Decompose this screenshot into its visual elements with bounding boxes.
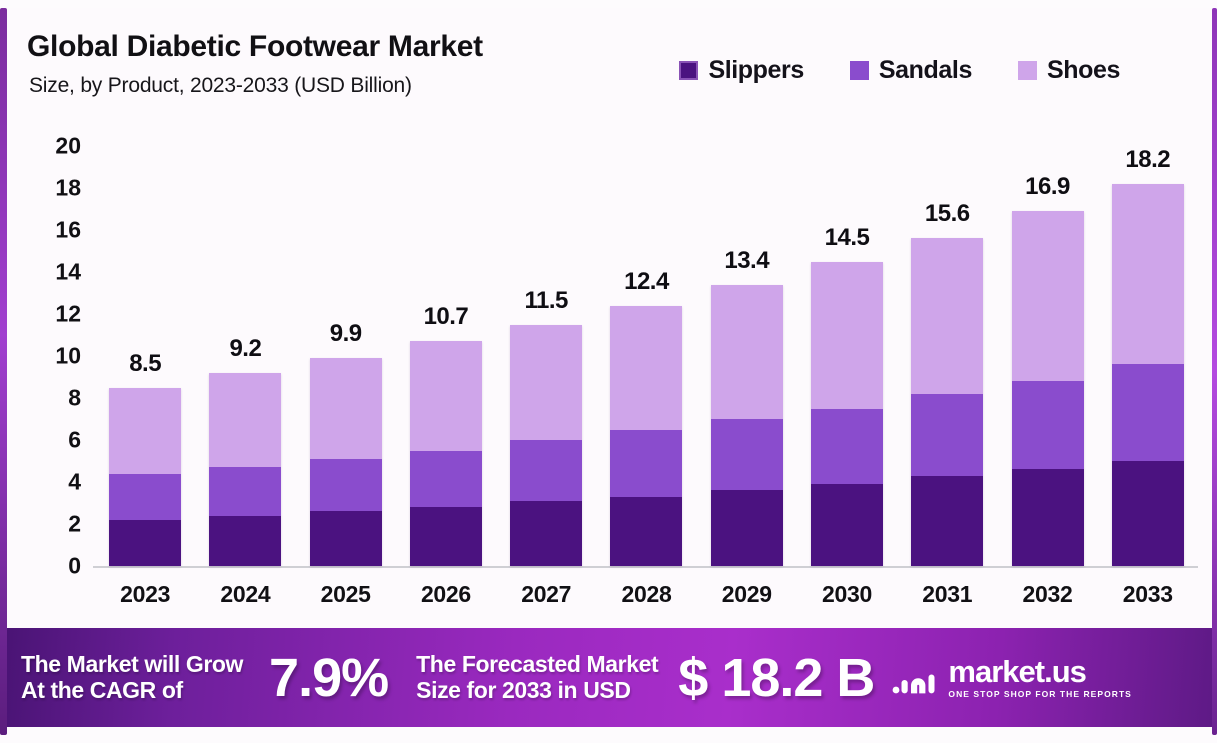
legend-label: Shoes — [1047, 56, 1120, 85]
bar-segment-sandals[interactable] — [610, 430, 682, 497]
forecast-size-label-line1: The Forecasted Market — [416, 651, 658, 677]
x-axis-tick-2030: 2030 — [801, 581, 893, 608]
chart-legend: SlippersSandalsShoes — [679, 56, 1120, 85]
bar-segment-slippers[interactable] — [610, 497, 682, 566]
legend-item-sandals[interactable]: Sandals — [850, 56, 972, 85]
footer-banner: The Market will Grow At the CAGR of 7.9%… — [7, 628, 1212, 727]
bar-total-label: 8.5 — [99, 350, 191, 378]
bar-total-label: 14.5 — [801, 224, 893, 252]
chart-infographic: Global Diabetic Footwear Market Size, by… — [0, 0, 1217, 743]
cagr-value: 7.9% — [269, 647, 388, 709]
x-axis-tick-2033: 2033 — [1102, 581, 1194, 608]
stacked-bar[interactable] — [711, 285, 783, 566]
y-axis-tick: 12 — [55, 301, 81, 328]
bar-segment-sandals[interactable] — [711, 419, 783, 490]
bar-segment-slippers[interactable] — [209, 516, 281, 566]
frame-right-accent — [1212, 8, 1217, 735]
bar-total-label: 10.7 — [400, 303, 492, 331]
bar-group-2028[interactable]: 12.4 — [600, 146, 692, 566]
y-axis: 02468101214161820 — [7, 116, 93, 620]
brand-name: market.us — [948, 656, 1131, 687]
bar-segment-sandals[interactable] — [410, 451, 482, 508]
y-axis-tick: 10 — [55, 343, 81, 370]
bar-segment-sandals[interactable] — [510, 440, 582, 501]
x-axis-tick-2031: 2031 — [901, 581, 993, 608]
bar-group-2030[interactable]: 14.5 — [801, 146, 893, 566]
cagr-label-line1: The Market will Grow — [21, 651, 243, 677]
x-axis-labels: 2023202420252026202720282029203020312032… — [95, 574, 1198, 614]
bar-total-label: 11.5 — [500, 287, 592, 315]
stacked-bar[interactable] — [1112, 184, 1184, 566]
stacked-bar[interactable] — [1012, 211, 1084, 566]
bar-segment-slippers[interactable] — [1012, 469, 1084, 566]
bar-group-2032[interactable]: 16.9 — [1002, 146, 1094, 566]
bar-segment-sandals[interactable] — [1112, 364, 1184, 461]
bar-segment-shoes[interactable] — [410, 341, 482, 450]
x-axis-line — [93, 566, 1198, 568]
bar-group-2031[interactable]: 15.6 — [901, 146, 993, 566]
bar-total-label: 9.2 — [199, 335, 291, 363]
y-axis-tick: 16 — [55, 217, 81, 244]
bar-group-2025[interactable]: 9.9 — [300, 146, 392, 566]
bar-segment-slippers[interactable] — [811, 484, 883, 566]
plot-area: 02468101214161820 8.59.29.910.711.512.41… — [7, 116, 1212, 620]
bar-segment-shoes[interactable] — [310, 358, 382, 459]
bar-segment-shoes[interactable] — [510, 325, 582, 441]
stacked-bar[interactable] — [610, 306, 682, 566]
bar-segment-slippers[interactable] — [310, 511, 382, 566]
bar-total-label: 9.9 — [300, 320, 392, 348]
forecast-size-label-line2: Size for 2033 in USD — [416, 677, 630, 703]
bar-segment-sandals[interactable] — [1012, 381, 1084, 469]
y-axis-tick: 14 — [55, 259, 81, 286]
bar-segment-slippers[interactable] — [1112, 461, 1184, 566]
legend-swatch-icon — [679, 61, 698, 80]
bar-segment-shoes[interactable] — [911, 238, 983, 393]
bar-total-label: 12.4 — [600, 268, 692, 296]
x-axis-tick-2032: 2032 — [1002, 581, 1094, 608]
brand-logo[interactable]: market.us ONE STOP SHOP FOR THE REPORTS — [892, 656, 1131, 699]
y-axis-tick: 18 — [55, 175, 81, 202]
y-axis-tick: 6 — [68, 427, 81, 454]
stacked-bar[interactable] — [410, 341, 482, 566]
bar-segment-shoes[interactable] — [209, 373, 281, 468]
bar-segment-slippers[interactable] — [410, 507, 482, 566]
bar-segment-shoes[interactable] — [1012, 211, 1084, 381]
market-us-logo-icon — [892, 661, 938, 695]
x-axis-tick-2028: 2028 — [600, 581, 692, 608]
bar-segment-slippers[interactable] — [911, 476, 983, 566]
stacked-bar[interactable] — [911, 238, 983, 566]
legend-swatch-icon — [850, 61, 869, 80]
cagr-label-line2: At the CAGR of — [21, 677, 183, 703]
cagr-label: The Market will Grow At the CAGR of — [21, 652, 243, 704]
page-subtitle: Size, by Product, 2023-2033 (USD Billion… — [29, 74, 412, 98]
bar-total-label: 16.9 — [1002, 173, 1094, 201]
legend-label: Sandals — [879, 56, 972, 85]
bar-group-2029[interactable]: 13.4 — [701, 146, 793, 566]
bar-segment-shoes[interactable] — [109, 388, 181, 474]
x-axis-tick-2029: 2029 — [701, 581, 793, 608]
frame-left-accent — [0, 8, 7, 735]
y-axis-tick: 2 — [68, 511, 81, 538]
bar-group-2024[interactable]: 9.2 — [199, 146, 291, 566]
forecast-size-label: The Forecasted Market Size for 2033 in U… — [416, 652, 658, 704]
bar-segment-shoes[interactable] — [610, 306, 682, 430]
bar-segment-sandals[interactable] — [911, 394, 983, 476]
x-axis-tick-2025: 2025 — [300, 581, 392, 608]
x-axis-tick-2027: 2027 — [500, 581, 592, 608]
bar-total-label: 13.4 — [701, 247, 793, 275]
bar-total-label: 15.6 — [901, 200, 993, 228]
legend-swatch-icon — [1018, 61, 1037, 80]
brand-tagline: ONE STOP SHOP FOR THE REPORTS — [948, 690, 1131, 699]
bar-group-2023[interactable]: 8.5 — [99, 146, 191, 566]
y-axis-tick: 4 — [68, 469, 81, 496]
legend-item-slippers[interactable]: Slippers — [679, 56, 803, 85]
bar-segment-slippers[interactable] — [711, 490, 783, 566]
stacked-bar[interactable] — [510, 325, 582, 566]
bar-segment-shoes[interactable] — [711, 285, 783, 419]
bar-segment-slippers[interactable] — [109, 520, 181, 566]
forecast-size-value: $ 18.2 B — [678, 647, 874, 709]
bar-series-group: 8.59.29.910.711.512.413.414.515.616.918.… — [95, 146, 1198, 566]
bar-segment-shoes[interactable] — [811, 262, 883, 409]
bar-segment-sandals[interactable] — [109, 474, 181, 520]
bar-group-2027[interactable]: 11.5 — [500, 146, 592, 566]
stacked-bar[interactable] — [310, 358, 382, 566]
y-axis-tick: 8 — [68, 385, 81, 412]
y-axis-tick: 0 — [68, 553, 81, 580]
bar-group-2026[interactable]: 10.7 — [400, 146, 492, 566]
bar-segment-sandals[interactable] — [209, 467, 281, 515]
y-axis-tick: 20 — [55, 133, 81, 160]
stacked-bar[interactable] — [209, 373, 281, 566]
bar-segment-slippers[interactable] — [510, 501, 582, 566]
legend-item-shoes[interactable]: Shoes — [1018, 56, 1120, 85]
stacked-bar[interactable] — [109, 388, 181, 566]
chart-card: Global Diabetic Footwear Market Size, by… — [7, 8, 1212, 620]
bar-total-label: 18.2 — [1102, 146, 1194, 174]
x-axis-tick-2023: 2023 — [99, 581, 191, 608]
bar-group-2033[interactable]: 18.2 — [1102, 146, 1194, 566]
stacked-bar[interactable] — [811, 262, 883, 566]
legend-label: Slippers — [708, 56, 803, 85]
x-axis-tick-2026: 2026 — [400, 581, 492, 608]
page-title: Global Diabetic Footwear Market — [27, 30, 483, 64]
chart-header: Global Diabetic Footwear Market Size, by… — [7, 8, 1212, 116]
x-axis-tick-2024: 2024 — [199, 581, 291, 608]
bar-segment-sandals[interactable] — [310, 459, 382, 512]
bar-segment-shoes[interactable] — [1112, 184, 1184, 365]
bar-segment-sandals[interactable] — [811, 409, 883, 485]
brand-text: market.us ONE STOP SHOP FOR THE REPORTS — [948, 656, 1131, 699]
